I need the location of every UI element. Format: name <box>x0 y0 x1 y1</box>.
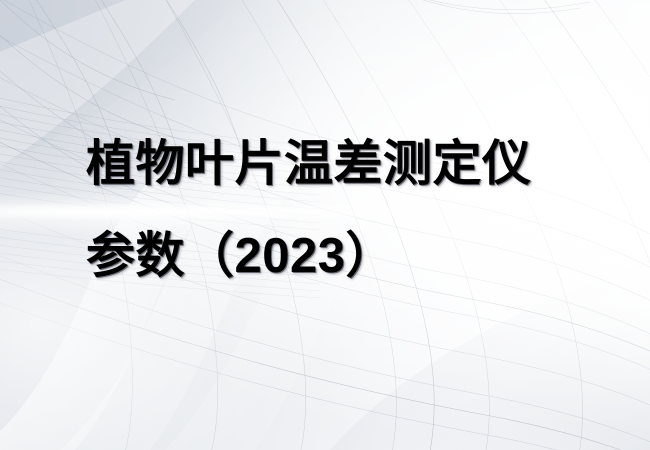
title-slide: 植物叶片温差测定仪 参数（2023） <box>0 0 650 450</box>
title-line-1: 植物叶片温差测定仪 <box>86 118 626 210</box>
slide-title: 植物叶片温差测定仪 参数（2023） <box>86 118 626 302</box>
title-line-2: 参数（2023） <box>86 210 626 302</box>
